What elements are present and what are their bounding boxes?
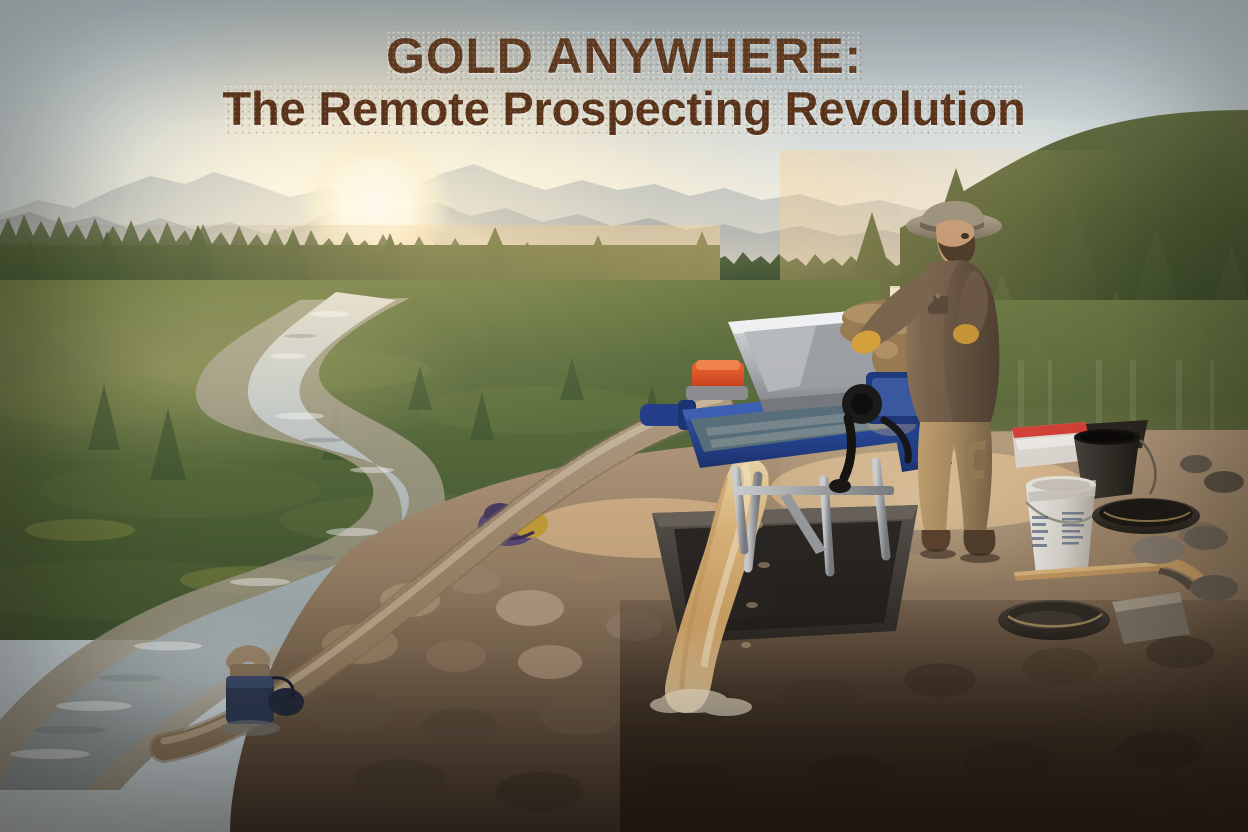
title-line-2: The Remote Prospecting Revolution: [223, 84, 1026, 134]
title-line-1: GOLD ANYWHERE:: [386, 30, 862, 82]
bucket-white: [1026, 476, 1096, 574]
gold-pan-lower: [998, 600, 1110, 640]
poster-canvas: GOLD ANYWHERE: The Remote Prospecting Re…: [0, 0, 1248, 832]
water-pump: [200, 650, 320, 760]
title-block: GOLD ANYWHERE: The Remote Prospecting Re…: [0, 30, 1248, 134]
gold-pan-upper: [1092, 498, 1200, 534]
prospecting-kit: [1000, 420, 1248, 700]
